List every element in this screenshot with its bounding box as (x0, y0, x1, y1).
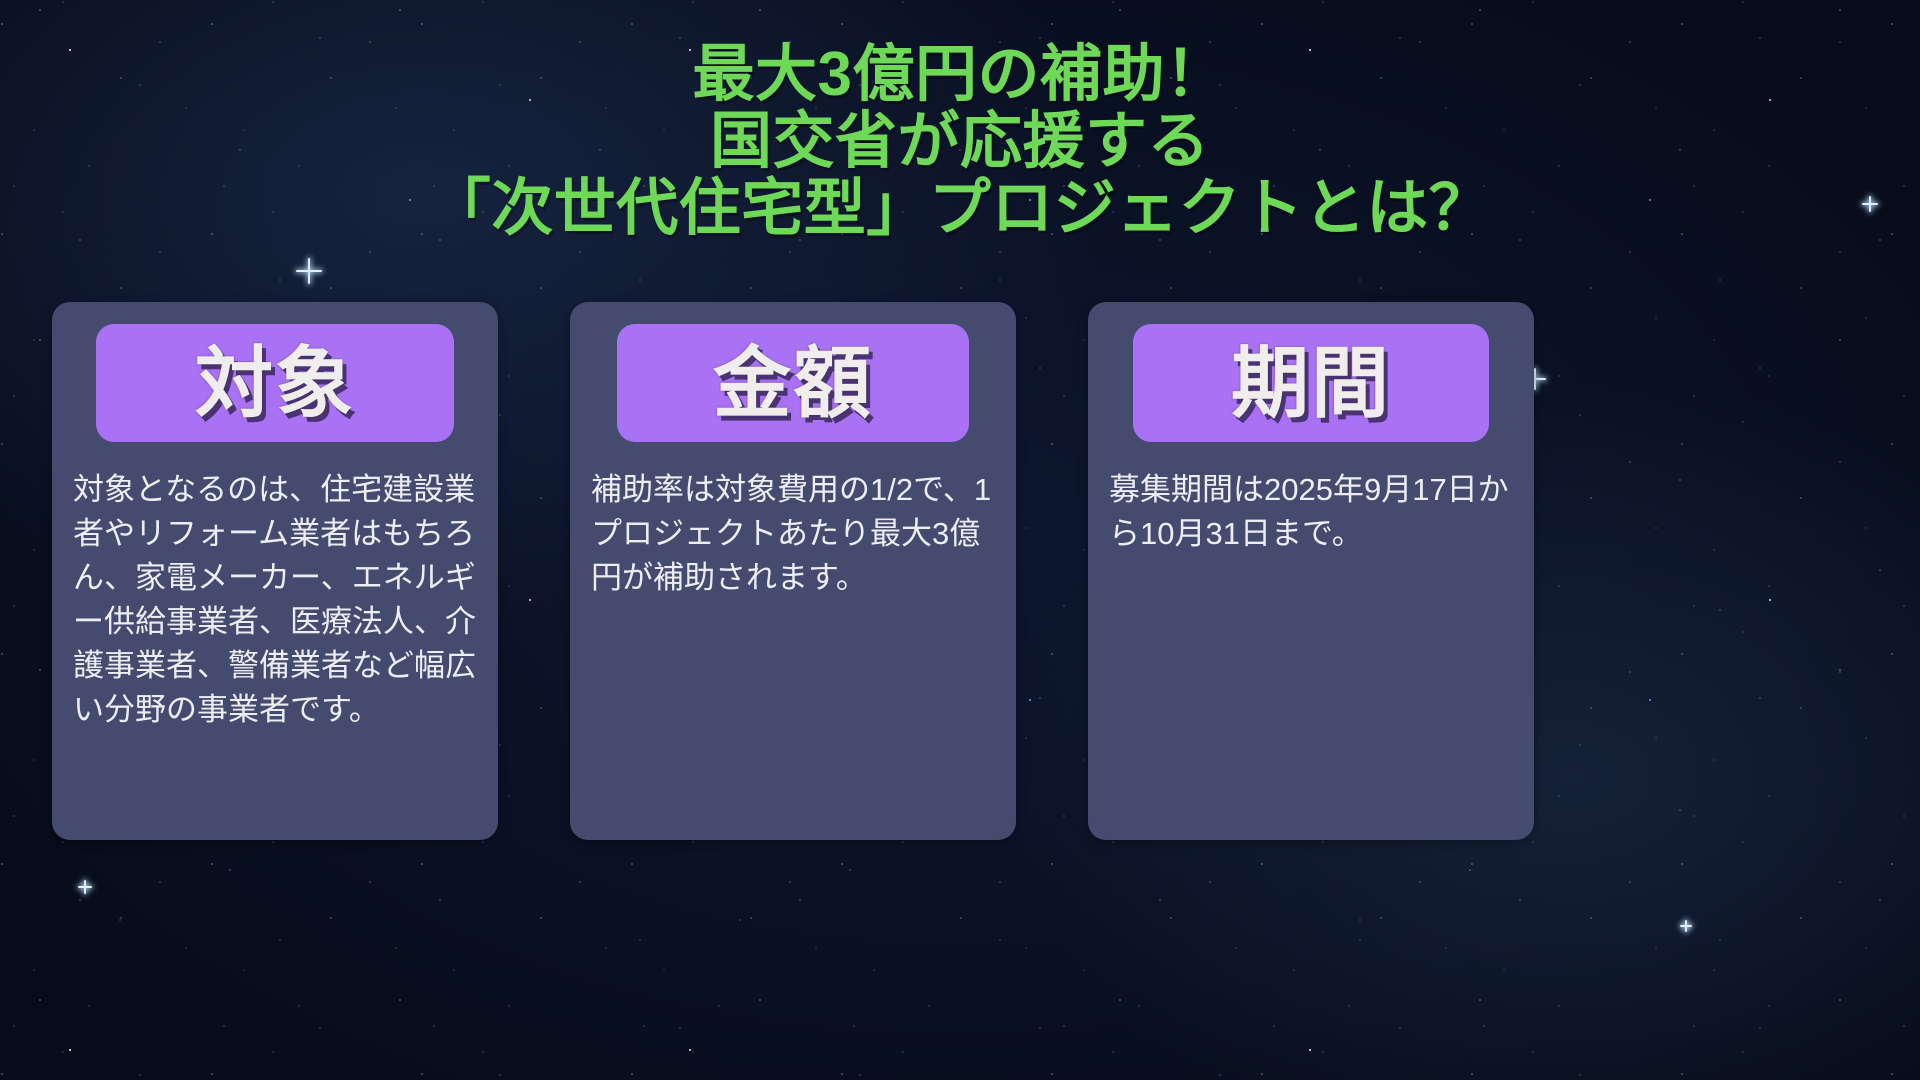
info-card-period: 期間 募集期間は2025年9月17日から10月31日まで。 (1088, 302, 1534, 840)
card-body-text: 補助率は対象費用の1/2で、1プロジェクトあたり最大3億円が補助されます。 (591, 468, 995, 600)
title-line-3: 「次世代住宅型」プロジェクトとは？ (40, 176, 1880, 243)
page-title: 最大3億円の補助！ 国交省が応援する 「次世代住宅型」プロジェクトとは？ (0, 42, 1920, 243)
info-card-row: 対象 対象となるのは、住宅建設業者やリフォーム業者はもちろん、家電メーカー、エネ… (52, 302, 1868, 840)
card-badge-period: 期間 (1133, 324, 1489, 442)
info-card-amount: 金額 補助率は対象費用の1/2で、1プロジェクトあたり最大3億円が補助されます。 (570, 302, 1016, 840)
card-body-text: 対象となるのは、住宅建設業者やリフォーム業者はもちろん、家電メーカー、エネルギー… (73, 468, 477, 732)
card-badge-label: 対象 (195, 344, 355, 422)
card-badge-label: 期間 (1231, 344, 1391, 422)
info-card-target: 対象 対象となるのは、住宅建設業者やリフォーム業者はもちろん、家電メーカー、エネ… (52, 302, 498, 840)
card-badge-label: 金額 (713, 344, 873, 422)
sparkle-star (1680, 920, 1692, 932)
card-badge-amount: 金額 (617, 324, 969, 442)
sparkle-star (78, 880, 92, 894)
card-body-text: 募集期間は2025年9月17日から10月31日まで。 (1109, 468, 1513, 556)
title-line-1: 最大3億円の補助！ (40, 42, 1880, 109)
sparkle-star (296, 258, 322, 284)
title-line-2: 国交省が応援する (40, 109, 1880, 176)
card-badge-target: 対象 (96, 324, 454, 442)
